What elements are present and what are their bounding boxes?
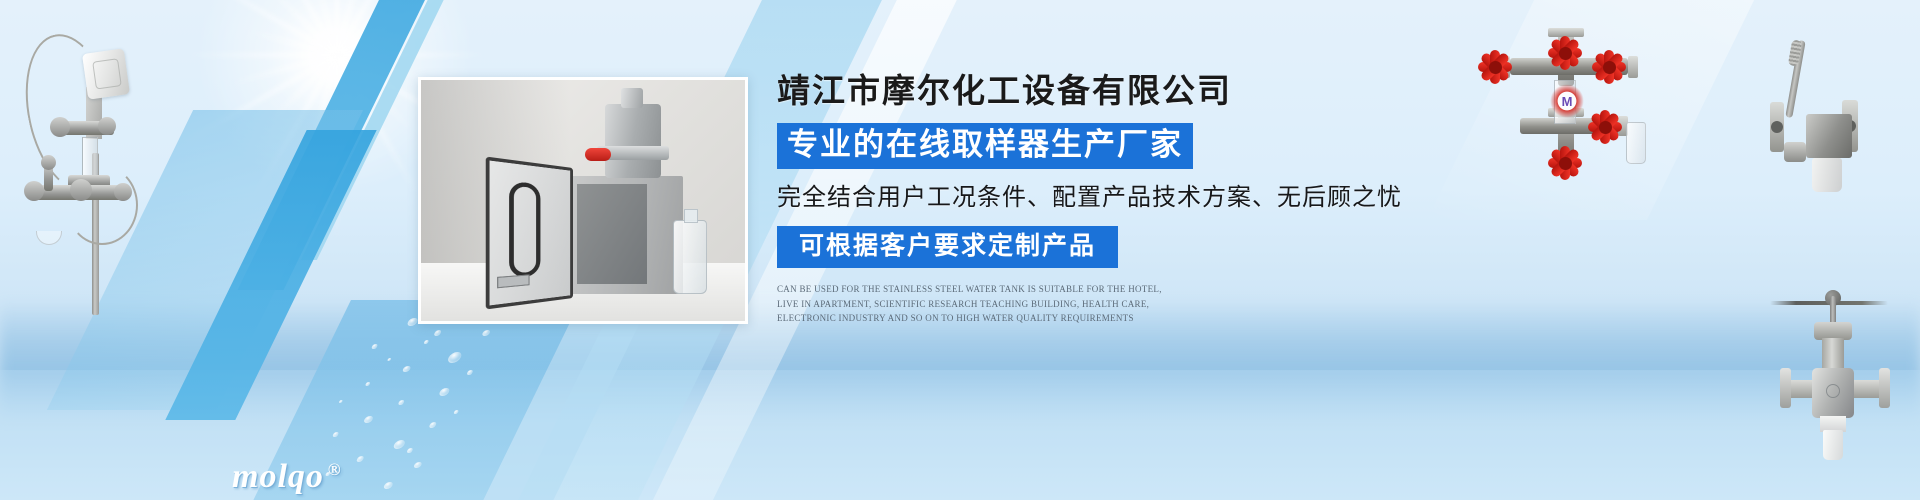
certification-seal-icon — [1550, 84, 1584, 118]
custom-product-badge: 可根据客户要求定制产品 — [777, 226, 1118, 268]
english-description: Can be used for the stainless steel wate… — [777, 282, 1185, 326]
company-name: 靖江市摩尔化工设备有限公司 — [777, 72, 1417, 113]
banner-text-block: 靖江市摩尔化工设备有限公司 专业的在线取样器生产厂家 完全结合用户工况条件、配置… — [777, 72, 1417, 326]
subline-text: 完全结合用户工况条件、配置产品技术方案、无后顾之忧 — [777, 182, 1417, 213]
watermark-text: molqo — [232, 458, 324, 495]
headline-badge: 专业的在线取样器生产厂家 — [777, 123, 1193, 169]
center-product-photo — [418, 77, 748, 324]
left-equipment-image — [10, 25, 165, 315]
lever-valve-image — [1768, 30, 1908, 210]
registered-mark-icon: ® — [328, 460, 342, 479]
tee-valve-image — [1778, 268, 1898, 468]
watermark-logo: molqo® — [232, 458, 342, 496]
promo-banner: 靖江市摩尔化工设备有限公司 专业的在线取样器生产厂家 完全结合用户工况条件、配置… — [0, 0, 1920, 500]
cross-valve-image — [1480, 26, 1660, 186]
